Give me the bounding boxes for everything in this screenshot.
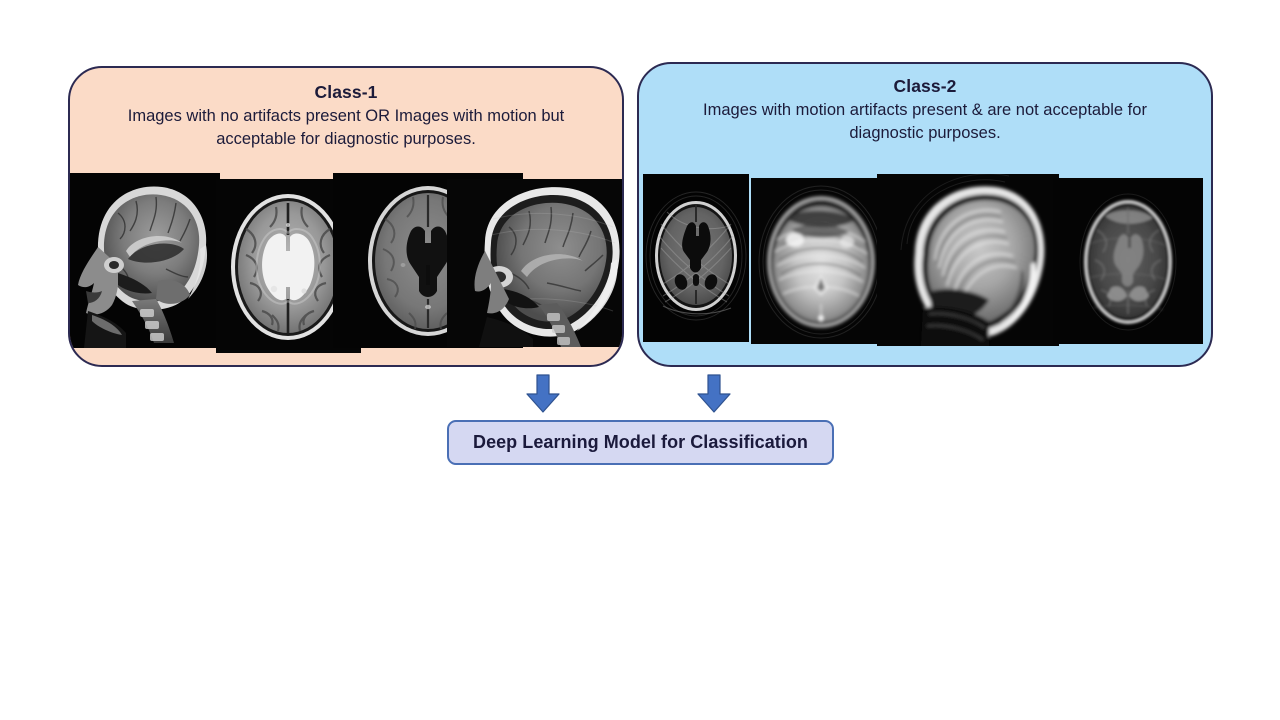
class-1-image-strip — [70, 173, 622, 353]
class-1-title: Class-1 — [70, 68, 622, 103]
class-1-card: Class-1 Images with no artifacts present… — [68, 66, 624, 367]
arrow-from-class-2-icon — [697, 374, 731, 414]
deep-learning-model-label: Deep Learning Model for Classification — [473, 432, 808, 453]
class-1-mri-1 — [70, 173, 220, 348]
class-2-description: Images with motion artifacts present & a… — [639, 97, 1211, 146]
class-2-image-strip — [639, 174, 1211, 354]
arrow-from-class-1-icon — [526, 374, 560, 414]
class-1-description: Images with no artifacts present OR Imag… — [70, 103, 622, 152]
class-2-title: Class-2 — [639, 64, 1211, 97]
class-1-mri-4 — [447, 179, 624, 347]
class-2-mri-4 — [1053, 178, 1203, 344]
class-2-mri-3 — [877, 174, 1059, 346]
class-2-mri-2 — [751, 178, 891, 344]
class-2-mri-1 — [643, 174, 749, 342]
class-2-card: Class-2 Images with motion artifacts pre… — [637, 62, 1213, 367]
deep-learning-model-box: Deep Learning Model for Classification — [447, 420, 834, 465]
